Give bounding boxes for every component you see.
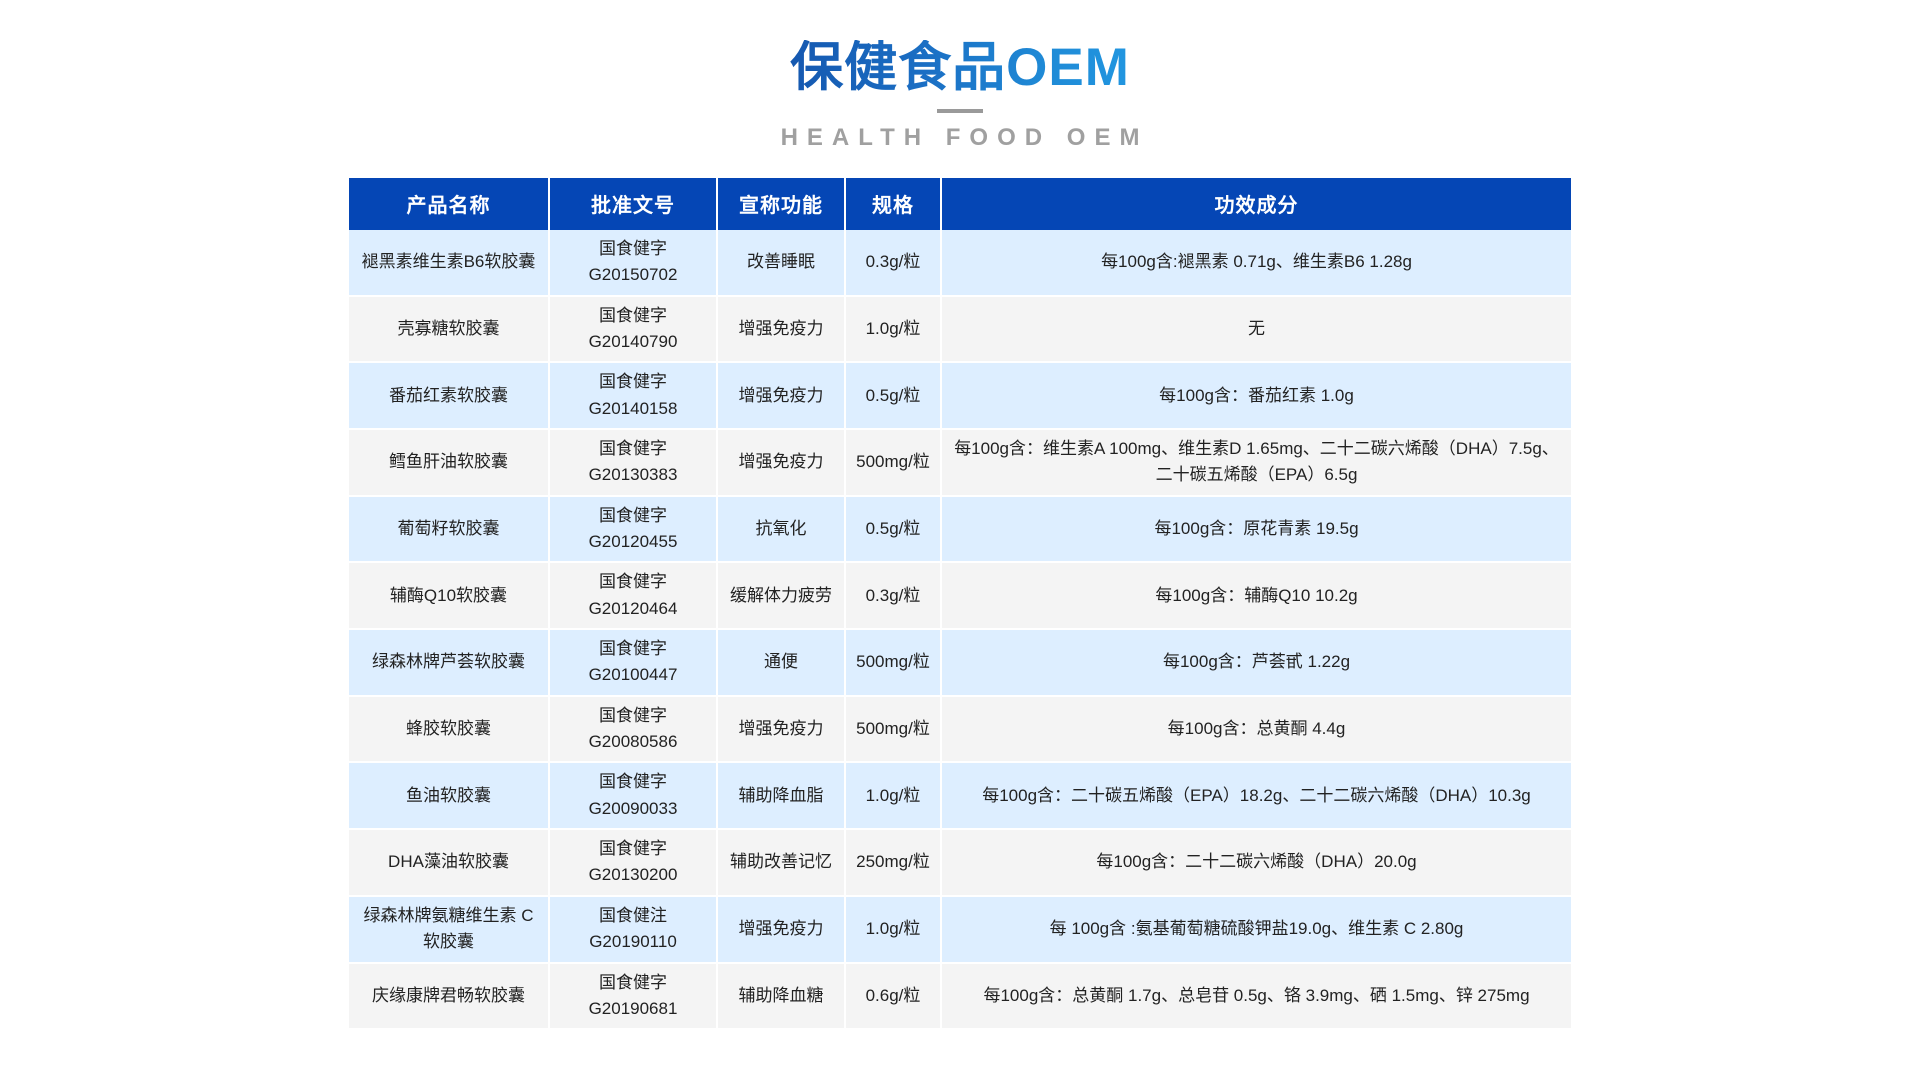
cell-product-name: 鱼油软胶囊 bbox=[349, 762, 549, 829]
cell-product-name: 蜂胶软胶囊 bbox=[349, 696, 549, 763]
cell-specification: 1.0g/粒 bbox=[845, 296, 941, 363]
cell-approval-number: 国食健字G20080586 bbox=[549, 696, 717, 763]
table-body: 褪黑素维生素B6软胶囊国食健字G20150702改善睡眠0.3g/粒每100g含… bbox=[349, 230, 1571, 1030]
cell-specification: 0.5g/粒 bbox=[845, 496, 941, 563]
table-row: 鳕鱼肝油软胶囊国食健字G20130383增强免疫力500mg/粒每100g含：维… bbox=[349, 429, 1571, 496]
table-row: 辅酶Q10软胶囊国食健字G20120464缓解体力疲劳0.3g/粒每100g含：… bbox=[349, 562, 1571, 629]
column-header-active-ingredients: 功效成分 bbox=[941, 178, 1571, 230]
cell-specification: 1.0g/粒 bbox=[845, 896, 941, 963]
cell-specification: 500mg/粒 bbox=[845, 696, 941, 763]
column-header-claimed-function: 宣称功能 bbox=[717, 178, 845, 230]
table-row: 壳寡糖软胶囊国食健字G20140790增强免疫力1.0g/粒无 bbox=[349, 296, 1571, 363]
cell-active-ingredients: 无 bbox=[941, 296, 1571, 363]
cell-claimed-function: 增强免疫力 bbox=[717, 696, 845, 763]
cell-approval-number: 国食健字G20140790 bbox=[549, 296, 717, 363]
cell-active-ingredients: 每100g含：原花青素 19.5g bbox=[941, 496, 1571, 563]
cell-specification: 0.3g/粒 bbox=[845, 562, 941, 629]
cell-product-name: 绿森林牌芦荟软胶囊 bbox=[349, 629, 549, 696]
cell-active-ingredients: 每100g含：辅酶Q10 10.2g bbox=[941, 562, 1571, 629]
table-row: DHA藻油软胶囊国食健字G20130200辅助改善记忆250mg/粒每100g含… bbox=[349, 829, 1571, 896]
cell-product-name: 鳕鱼肝油软胶囊 bbox=[349, 429, 549, 496]
cell-approval-number: 国食健字G20120464 bbox=[549, 562, 717, 629]
table-row: 绿森林牌芦荟软胶囊国食健字G20100447通便500mg/粒每100g含：芦荟… bbox=[349, 629, 1571, 696]
cell-approval-number: 国食健字G20100447 bbox=[549, 629, 717, 696]
cell-claimed-function: 改善睡眠 bbox=[717, 230, 845, 296]
cell-active-ingredients: 每100g含：维生素A 100mg、维生素D 1.65mg、二十二碳六烯酸（DH… bbox=[941, 429, 1571, 496]
page-subtitle: HEALTH FOOD OEM bbox=[0, 124, 1920, 152]
cell-specification: 0.3g/粒 bbox=[845, 230, 941, 296]
table-row: 葡萄籽软胶囊国食健字G20120455抗氧化0.5g/粒每100g含：原花青素 … bbox=[349, 496, 1571, 563]
cell-approval-number: 国食健字G20130200 bbox=[549, 829, 717, 896]
page-title: 保健食品OEM bbox=[790, 40, 1130, 96]
cell-active-ingredients: 每100g含：二十二碳六烯酸（DHA）20.0g bbox=[941, 829, 1571, 896]
table-head: 产品名称 批准文号 宣称功能 规格 功效成分 bbox=[349, 178, 1571, 230]
product-table-wrapper: 产品名称 批准文号 宣称功能 规格 功效成分 褪黑素维生素B6软胶囊国食健字G2… bbox=[349, 178, 1571, 1031]
cell-active-ingredients: 每100g含：二十碳五烯酸（EPA）18.2g、二十二碳六烯酸（DHA）10.3… bbox=[941, 762, 1571, 829]
cell-specification: 0.6g/粒 bbox=[845, 963, 941, 1030]
cell-active-ingredients: 每100g含:褪黑素 0.71g、维生素B6 1.28g bbox=[941, 230, 1571, 296]
cell-active-ingredients: 每100g含：番茄红素 1.0g bbox=[941, 362, 1571, 429]
cell-approval-number: 国食健注G20190110 bbox=[549, 896, 717, 963]
cell-active-ingredients: 每 100g含 :氨基葡萄糖硫酸钾盐19.0g、维生素 C 2.80g bbox=[941, 896, 1571, 963]
table-row: 绿森林牌氨糖维生素 C软胶囊国食健注G20190110增强免疫力1.0g/粒每 … bbox=[349, 896, 1571, 963]
table-row: 褪黑素维生素B6软胶囊国食健字G20150702改善睡眠0.3g/粒每100g含… bbox=[349, 230, 1571, 296]
cell-specification: 1.0g/粒 bbox=[845, 762, 941, 829]
cell-active-ingredients: 每100g含：芦荟甙 1.22g bbox=[941, 629, 1571, 696]
page-header: 保健食品OEM HEALTH FOOD OEM bbox=[0, 0, 1920, 152]
cell-claimed-function: 辅助降血糖 bbox=[717, 963, 845, 1030]
table-row: 蜂胶软胶囊国食健字G20080586增强免疫力500mg/粒每100g含：总黄酮… bbox=[349, 696, 1571, 763]
cell-product-name: DHA藻油软胶囊 bbox=[349, 829, 549, 896]
cell-approval-number: 国食健字G20120455 bbox=[549, 496, 717, 563]
column-header-specification: 规格 bbox=[845, 178, 941, 230]
cell-claimed-function: 增强免疫力 bbox=[717, 896, 845, 963]
cell-specification: 250mg/粒 bbox=[845, 829, 941, 896]
cell-claimed-function: 增强免疫力 bbox=[717, 362, 845, 429]
cell-product-name: 辅酶Q10软胶囊 bbox=[349, 562, 549, 629]
cell-approval-number: 国食健字G20130383 bbox=[549, 429, 717, 496]
cell-product-name: 庆缘康牌君畅软胶囊 bbox=[349, 963, 549, 1030]
cell-product-name: 番茄红素软胶囊 bbox=[349, 362, 549, 429]
cell-claimed-function: 辅助降血脂 bbox=[717, 762, 845, 829]
cell-claimed-function: 通便 bbox=[717, 629, 845, 696]
cell-active-ingredients: 每100g含：总黄酮 1.7g、总皂苷 0.5g、铬 3.9mg、硒 1.5mg… bbox=[941, 963, 1571, 1030]
column-header-approval-number: 批准文号 bbox=[549, 178, 717, 230]
table-row: 番茄红素软胶囊国食健字G20140158增强免疫力0.5g/粒每100g含：番茄… bbox=[349, 362, 1571, 429]
cell-approval-number: 国食健字G20090033 bbox=[549, 762, 717, 829]
cell-product-name: 绿森林牌氨糖维生素 C软胶囊 bbox=[349, 896, 549, 963]
cell-product-name: 褪黑素维生素B6软胶囊 bbox=[349, 230, 549, 296]
cell-claimed-function: 缓解体力疲劳 bbox=[717, 562, 845, 629]
page-root: 保健食品OEM HEALTH FOOD OEM 产品名称 批准文号 宣称功能 规… bbox=[0, 0, 1920, 1074]
table-header-row: 产品名称 批准文号 宣称功能 规格 功效成分 bbox=[349, 178, 1571, 230]
cell-approval-number: 国食健字G20150702 bbox=[549, 230, 717, 296]
cell-approval-number: 国食健字G20140158 bbox=[549, 362, 717, 429]
cell-specification: 0.5g/粒 bbox=[845, 362, 941, 429]
cell-claimed-function: 抗氧化 bbox=[717, 496, 845, 563]
cell-specification: 500mg/粒 bbox=[845, 429, 941, 496]
product-table: 产品名称 批准文号 宣称功能 规格 功效成分 褪黑素维生素B6软胶囊国食健字G2… bbox=[349, 178, 1571, 1031]
cell-product-name: 葡萄籽软胶囊 bbox=[349, 496, 549, 563]
title-divider bbox=[937, 109, 983, 113]
table-row: 鱼油软胶囊国食健字G20090033辅助降血脂1.0g/粒每100g含：二十碳五… bbox=[349, 762, 1571, 829]
cell-claimed-function: 增强免疫力 bbox=[717, 296, 845, 363]
cell-approval-number: 国食健字G20190681 bbox=[549, 963, 717, 1030]
column-header-product-name: 产品名称 bbox=[349, 178, 549, 230]
cell-active-ingredients: 每100g含：总黄酮 4.4g bbox=[941, 696, 1571, 763]
cell-claimed-function: 增强免疫力 bbox=[717, 429, 845, 496]
table-row: 庆缘康牌君畅软胶囊国食健字G20190681辅助降血糖0.6g/粒每100g含：… bbox=[349, 963, 1571, 1030]
cell-specification: 500mg/粒 bbox=[845, 629, 941, 696]
cell-claimed-function: 辅助改善记忆 bbox=[717, 829, 845, 896]
cell-product-name: 壳寡糖软胶囊 bbox=[349, 296, 549, 363]
